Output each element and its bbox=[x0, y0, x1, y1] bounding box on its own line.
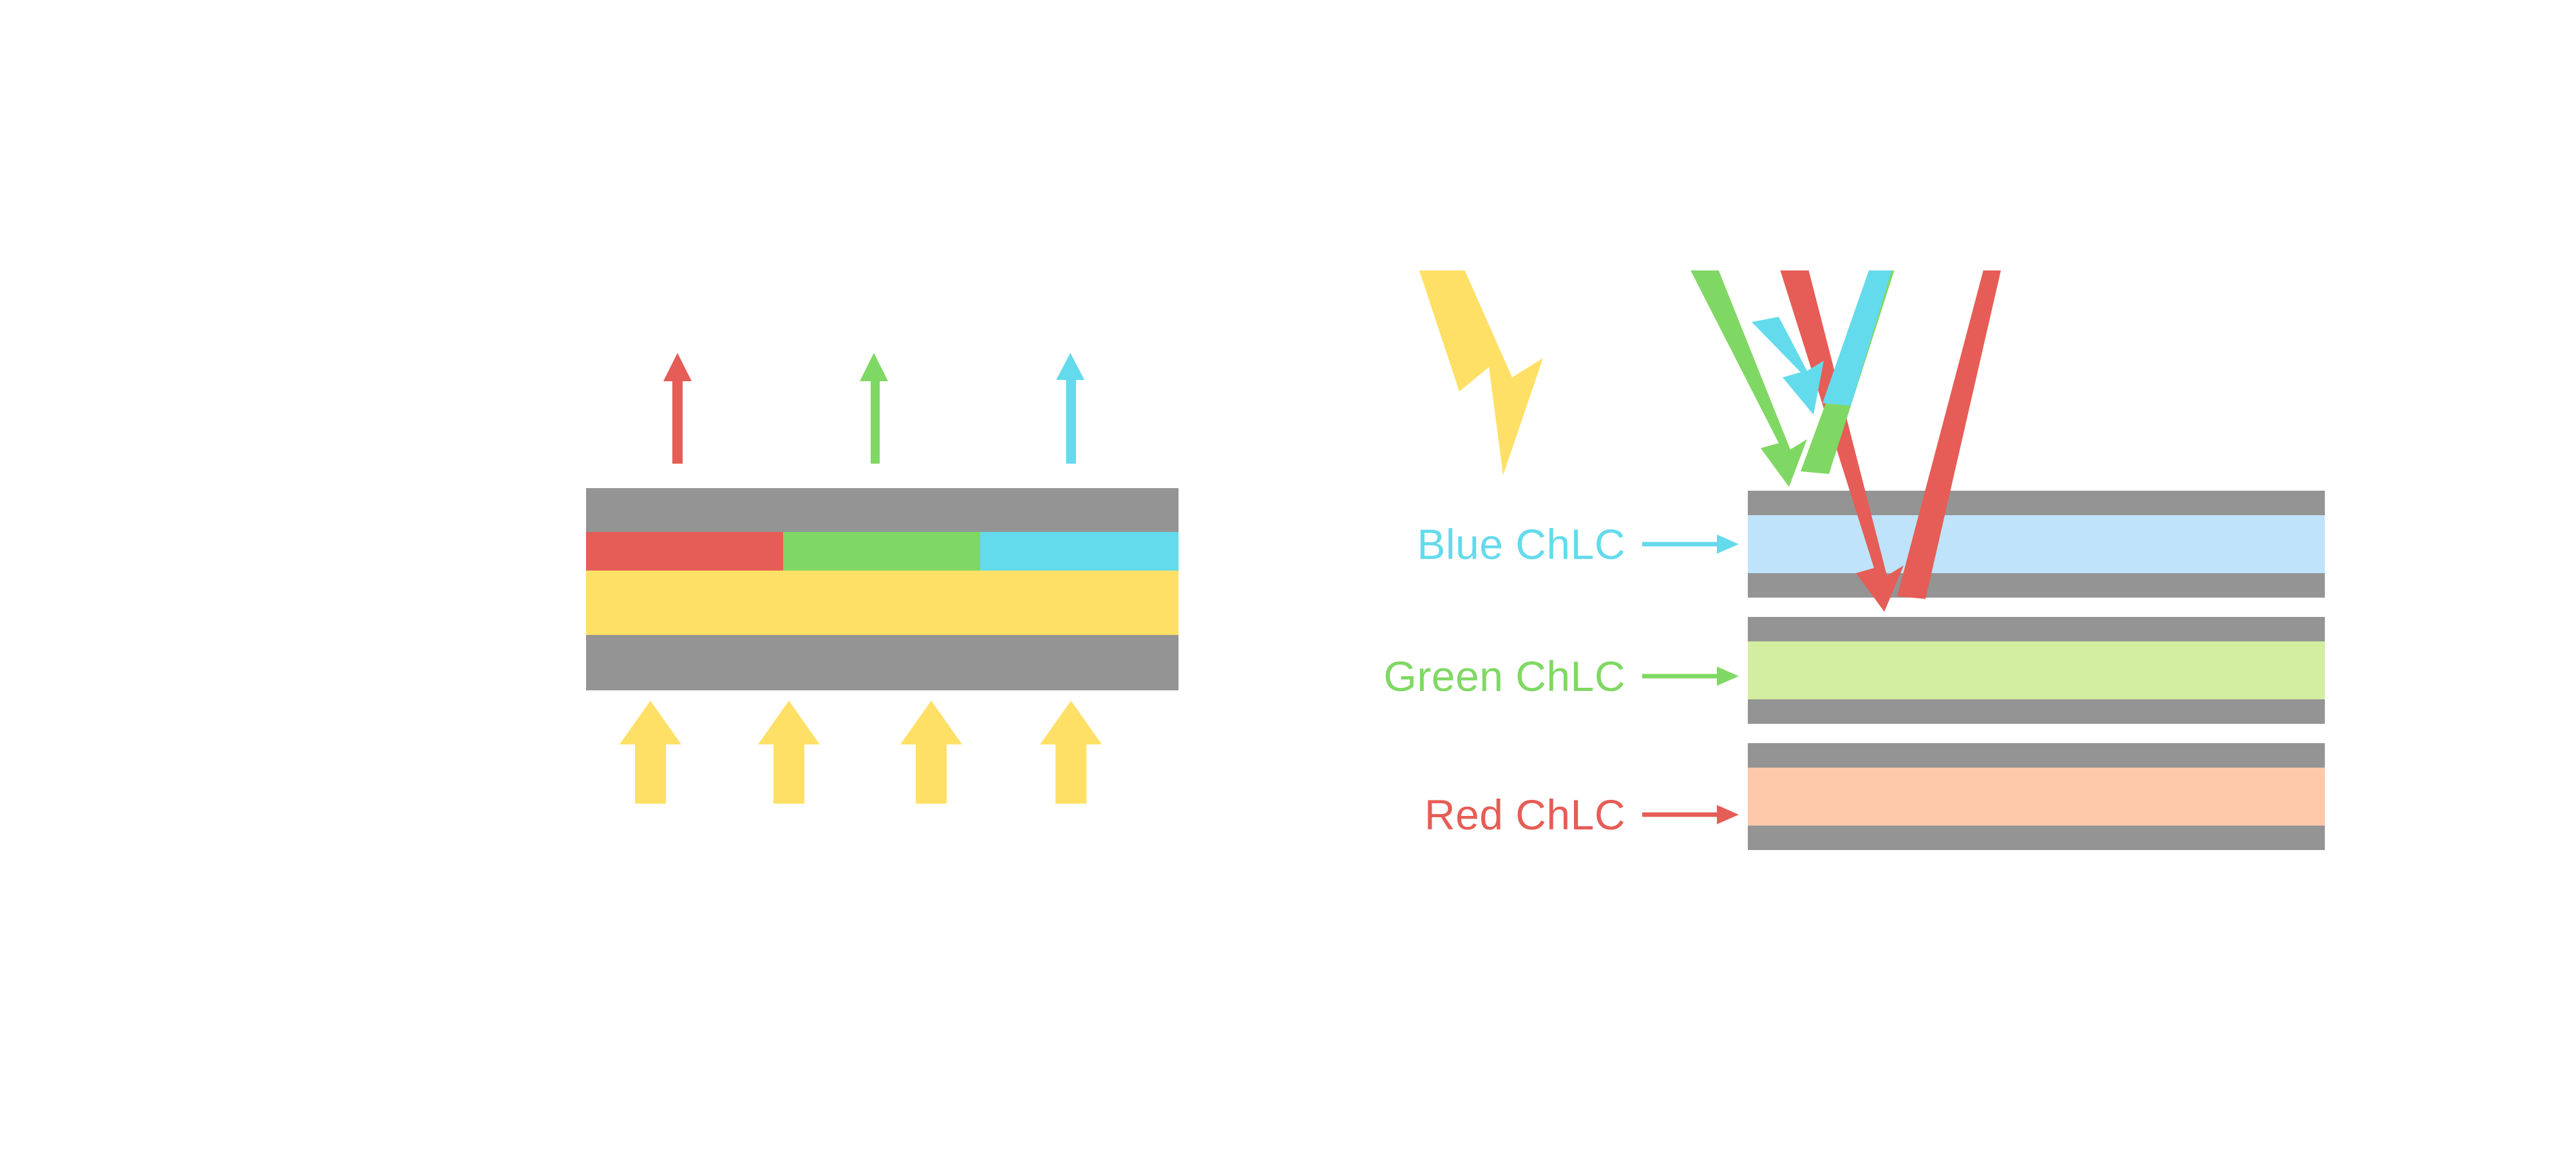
blue-label-pointer-icon bbox=[1642, 531, 1739, 557]
blue-reflected-ray bbox=[1752, 270, 1945, 415]
right-cell-stack bbox=[1748, 491, 2325, 800]
green-cell-top-electrode bbox=[1748, 617, 2325, 641]
backlight-arrow-2 bbox=[758, 701, 820, 804]
bottom-electrode bbox=[586, 635, 1179, 690]
red-cell-top-electrode bbox=[1748, 743, 2325, 768]
blue-cell-top-electrode bbox=[1748, 491, 2325, 515]
green-reflected-ray bbox=[1685, 270, 1927, 487]
cyan-emission-arrow bbox=[1056, 353, 1084, 464]
green-emission-arrow bbox=[860, 353, 888, 464]
green-subpixel bbox=[783, 532, 980, 571]
label-row-blue: Blue ChLC bbox=[1378, 518, 1739, 570]
transmissive-color-filter-cell bbox=[586, 322, 1191, 831]
top-electrode bbox=[586, 488, 1179, 532]
backlight-arrow-4 bbox=[1040, 701, 1102, 804]
green-chlc-layer bbox=[1748, 641, 2325, 699]
diagram-canvas: Blue ChLC Green ChLC Red ChLC bbox=[0, 0, 2576, 1154]
red-emission-arrow bbox=[663, 353, 692, 464]
backlight-arrow-1 bbox=[620, 701, 681, 804]
red-subpixel bbox=[586, 532, 783, 571]
red-label-pointer-icon bbox=[1642, 802, 1739, 828]
label-row-green: Green ChLC bbox=[1378, 650, 1739, 702]
white-light-incident-arrow bbox=[1404, 270, 1543, 475]
red-cell-bottom-electrode bbox=[1748, 826, 2325, 850]
label-row-red: Red ChLC bbox=[1378, 789, 1739, 840]
red-chlc-label: Red ChLC bbox=[1425, 793, 1625, 836]
backlight-diffuser bbox=[586, 571, 1179, 635]
color-filter-row bbox=[586, 532, 1179, 571]
left-cell-stack bbox=[586, 488, 1179, 690]
green-chlc-label: Green ChLC bbox=[1383, 655, 1625, 697]
blue-chlc-layer bbox=[1748, 515, 2325, 573]
blue-chlc-label: Blue ChLC bbox=[1417, 523, 1625, 565]
stacked-chlc-reflective-cell: Blue ChLC Green ChLC Red ChLC bbox=[1378, 270, 2383, 876]
green-label-pointer-icon bbox=[1642, 663, 1739, 689]
red-chlc-layer bbox=[1748, 768, 2325, 826]
backlight-arrow-3 bbox=[900, 701, 962, 804]
green-cell-bottom-electrode bbox=[1748, 699, 2325, 724]
cyan-subpixel bbox=[980, 532, 1179, 571]
blue-cell-bottom-electrode bbox=[1748, 573, 2325, 598]
